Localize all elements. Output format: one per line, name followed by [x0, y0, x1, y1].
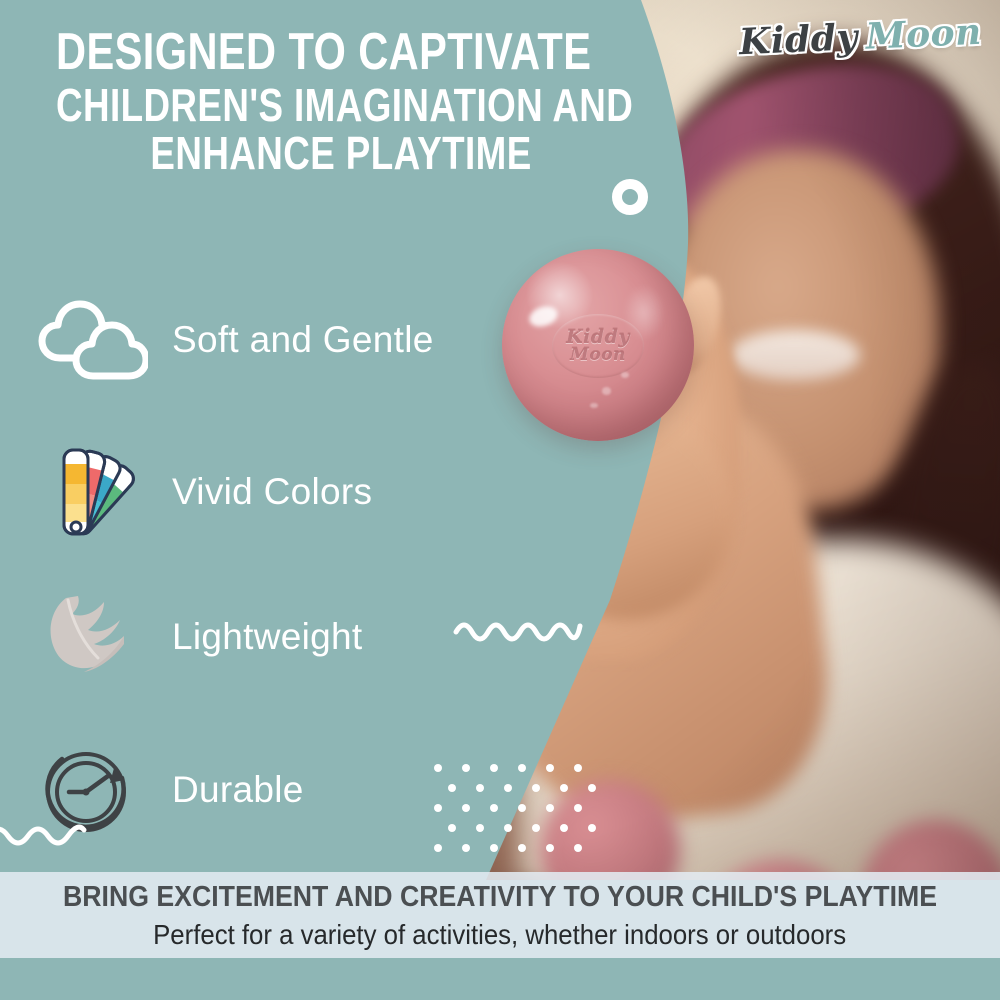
feature-item-lightweight: Lightweight — [36, 592, 363, 682]
ball-emboss-line-2: Moon — [570, 347, 626, 364]
feature-label: Durable — [172, 769, 304, 811]
color-swatch-fan-icon — [36, 444, 148, 540]
ball-embossed-logo: Kiddy Moon — [552, 314, 644, 377]
footer-headline: BRING EXCITEMENT AND CREATIVITY TO YOUR … — [63, 881, 937, 914]
feature-item-soft-and-gentle: Soft and Gentle — [36, 298, 434, 382]
feature-label: Soft and Gentle — [172, 319, 434, 361]
ball-speck — [602, 387, 612, 395]
footer-subline: Perfect for a variety of activities, whe… — [154, 919, 847, 951]
page-title: DESIGNED TO CAPTIVATE CHILDREN'S IMAGINA… — [56, 26, 616, 176]
logo-word-kiddy: Kiddy — [738, 16, 858, 63]
feature-label: Lightweight — [172, 616, 363, 658]
logo-word-moon: Moon — [865, 11, 983, 58]
product-ball: Kiddy Moon — [502, 249, 694, 441]
white-ring-icon — [612, 179, 648, 215]
white-dot-grid — [432, 762, 602, 859]
feature-item-vivid-colors: Vivid Colors — [36, 444, 372, 540]
white-wavy-line-right — [452, 612, 584, 651]
headline-line-1: DESIGNED TO CAPTIVATE — [56, 26, 504, 78]
infographic-canvas: Kiddy Moon KiddyMoon DESIGNED TO CAPTIVA… — [0, 0, 1000, 1000]
headline-line-3: ENHANCE PLAYTIME — [150, 130, 598, 176]
feature-label: Vivid Colors — [172, 471, 372, 513]
white-wavy-line-bottom-left — [0, 818, 104, 857]
feather-icon — [36, 592, 148, 682]
cloud-icon — [36, 298, 148, 382]
ball-speck — [621, 372, 629, 378]
headline-line-2: CHILDREN'S IMAGINATION AND — [56, 82, 504, 128]
footer-banner: BRING EXCITEMENT AND CREATIVITY TO YOUR … — [0, 872, 1000, 958]
ball-speck — [590, 403, 598, 409]
ball-gloss-highlight — [527, 303, 560, 330]
